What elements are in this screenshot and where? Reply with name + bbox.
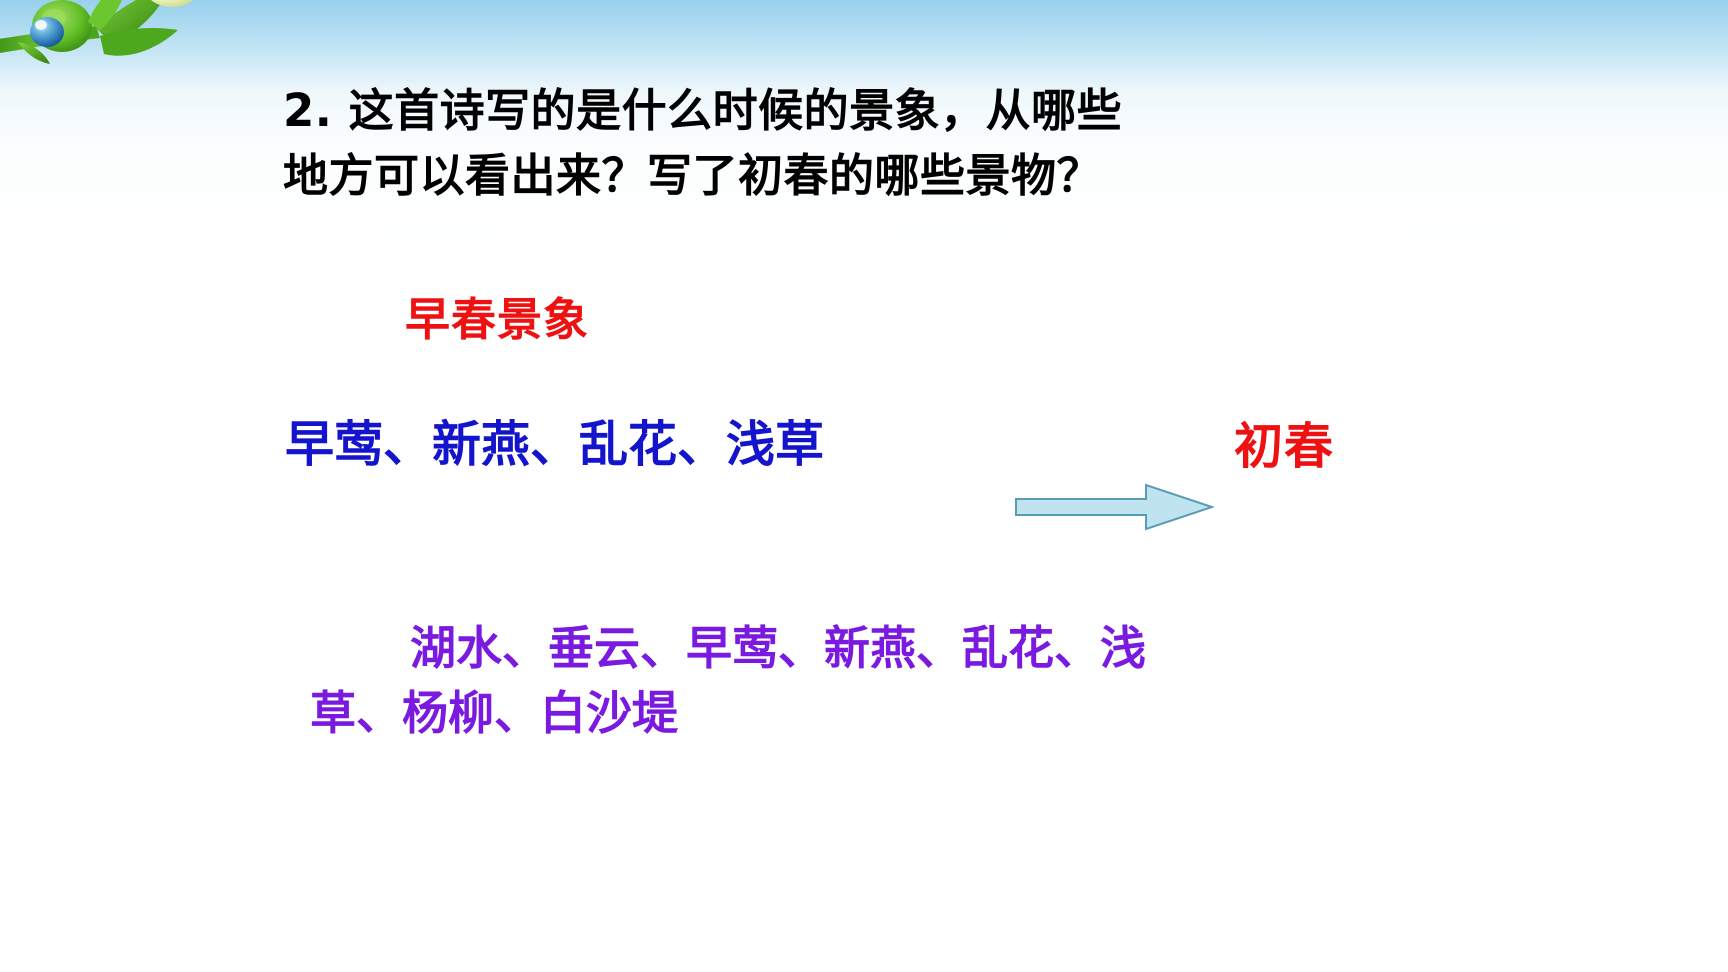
green-leaf-bud-with-dewdrop-icon bbox=[0, 0, 230, 97]
scenery-list-line-2: 草、杨柳、白沙堤 bbox=[310, 681, 1410, 746]
slide-canvas: 2. 这首诗写的是什么时候的景象，从哪些 地方可以看出来？写了初春的哪些景物？ … bbox=[0, 0, 1728, 972]
season-label: 早春景象 bbox=[405, 295, 589, 345]
question-text: 2. 这首诗写的是什么时候的景象，从哪些 地方可以看出来？写了初春的哪些景物？ bbox=[283, 78, 1403, 209]
right-arrow-icon bbox=[1014, 483, 1214, 531]
conclusion-label: 初春 bbox=[1234, 420, 1334, 474]
scenery-list: 湖水、垂云、早莺、新燕、乱花、浅 草、杨柳、白沙堤 bbox=[310, 616, 1410, 747]
imagery-list: 早莺、新燕、乱花、浅草 bbox=[285, 418, 824, 472]
scenery-list-line-1: 湖水、垂云、早莺、新燕、乱花、浅 bbox=[310, 616, 1410, 681]
